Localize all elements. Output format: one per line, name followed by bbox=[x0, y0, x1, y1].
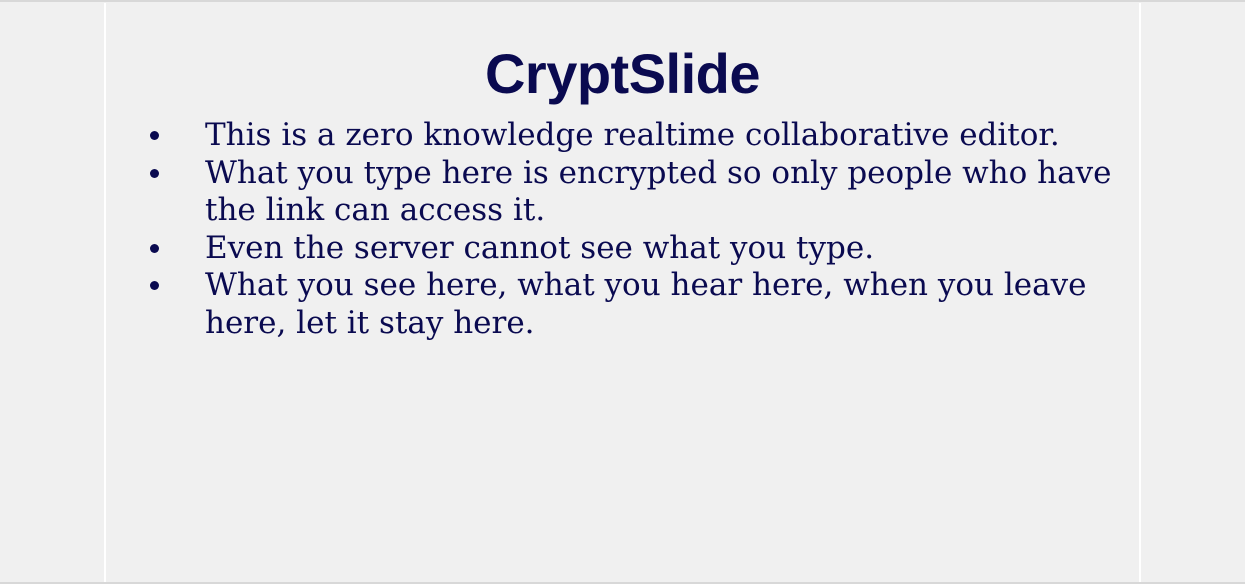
bullet-dot-icon bbox=[150, 131, 159, 140]
slide-canvas[interactable]: CryptSlide This is a zero knowledge real… bbox=[106, 3, 1139, 582]
left-gutter bbox=[0, 2, 104, 582]
list-item[interactable]: Even the server cannot see what you type… bbox=[134, 230, 1124, 268]
bullet-dot-icon bbox=[150, 244, 159, 253]
slide-editor-root: CryptSlide This is a zero knowledge real… bbox=[0, 0, 1245, 584]
top-edge-rule bbox=[0, 0, 1245, 2]
slide-title[interactable]: CryptSlide bbox=[106, 43, 1139, 105]
list-item[interactable]: What you type here is encrypted so only … bbox=[134, 155, 1124, 230]
bullet-text[interactable]: What you type here is encrypted so only … bbox=[205, 155, 1124, 230]
bullet-dot-icon bbox=[150, 281, 159, 290]
list-item[interactable]: This is a zero knowledge realtime collab… bbox=[134, 117, 1124, 155]
list-item[interactable]: What you see here, what you hear here, w… bbox=[134, 267, 1124, 342]
bullet-text[interactable]: This is a zero knowledge realtime collab… bbox=[205, 117, 1124, 155]
bullet-dot-icon bbox=[150, 169, 159, 178]
slide-bullet-list: This is a zero knowledge realtime collab… bbox=[134, 117, 1124, 342]
bullet-text[interactable]: Even the server cannot see what you type… bbox=[205, 230, 1124, 268]
slide-divider-right bbox=[1139, 3, 1141, 582]
bullet-text[interactable]: What you see here, what you hear here, w… bbox=[205, 267, 1124, 342]
right-gutter bbox=[1141, 2, 1245, 582]
